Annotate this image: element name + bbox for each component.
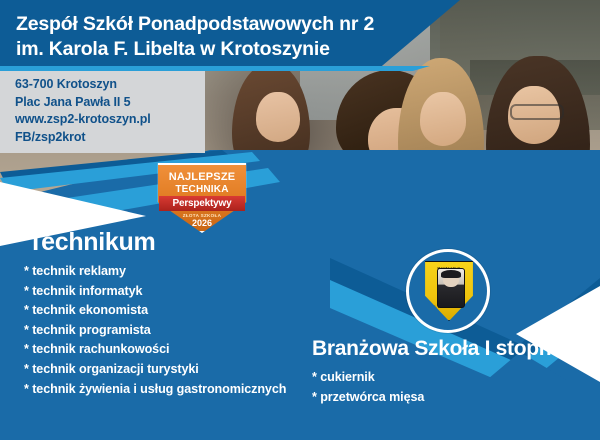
branzowa-list: * cukiernik * przetwórca mięsa — [312, 368, 562, 407]
technikum-heading: Technikum — [28, 228, 155, 257]
perspektywy-badge: NAJLEPSZE TECHNIKA Perspektywy ZŁOTA SZK… — [156, 163, 248, 233]
list-item: * technik reklamy — [24, 262, 344, 282]
glasses-icon — [510, 104, 564, 120]
list-item: * technik ekonomista — [24, 301, 344, 321]
school-logo: Krotoszyn ZSP 2 im. K. F. Libelta — [406, 249, 490, 333]
title-line-2: im. Karola F. Libelta w Krotoszynie — [16, 37, 436, 62]
branzowa-heading: Branżowa Szkoła I stopnia — [312, 337, 568, 361]
portrait-hair — [441, 270, 461, 278]
badge-ribbon-label: Perspektywy — [173, 198, 232, 209]
list-item: * technik organizacji turystyki — [24, 360, 344, 380]
patron-portrait-icon — [437, 268, 465, 308]
school-promo-banner: Zespół Szkół Ponadpodstawowych nr 2 im. … — [0, 0, 600, 440]
page-title: Zespół Szkół Ponadpodstawowych nr 2 im. … — [16, 12, 436, 62]
title-line-1: Zespół Szkół Ponadpodstawowych nr 2 — [16, 12, 436, 37]
badge-line-one: NAJLEPSZE — [156, 171, 248, 183]
website-link[interactable]: www.zsp2-krotoszyn.pl — [15, 111, 205, 129]
address-postal-city: 63-700 Krotoszyn — [15, 76, 205, 94]
badge-ribbon: Perspektywy — [159, 196, 245, 211]
student-three-face — [420, 92, 466, 146]
list-item: * technik żywienia i usług gastronomiczn… — [24, 380, 344, 400]
contact-info: 63-700 Krotoszyn Plac Jana Pawła II 5 ww… — [15, 76, 205, 146]
address-street: Plac Jana Pawła II 5 — [15, 94, 205, 112]
facebook-link[interactable]: FB/zsp2krot — [15, 129, 205, 147]
badge-year: 2026 — [156, 218, 248, 228]
list-item: * technik informatyk — [24, 282, 344, 302]
list-item: * cukiernik — [312, 368, 562, 388]
list-item: * technik programista — [24, 321, 344, 341]
list-item: * przetwórca mięsa — [312, 388, 562, 408]
badge-line-two: TECHNIKA — [156, 184, 248, 195]
technikum-list: * technik reklamy * technik informatyk *… — [24, 262, 344, 399]
list-item: * technik rachunkowości — [24, 340, 344, 360]
student-one-face — [256, 92, 300, 142]
